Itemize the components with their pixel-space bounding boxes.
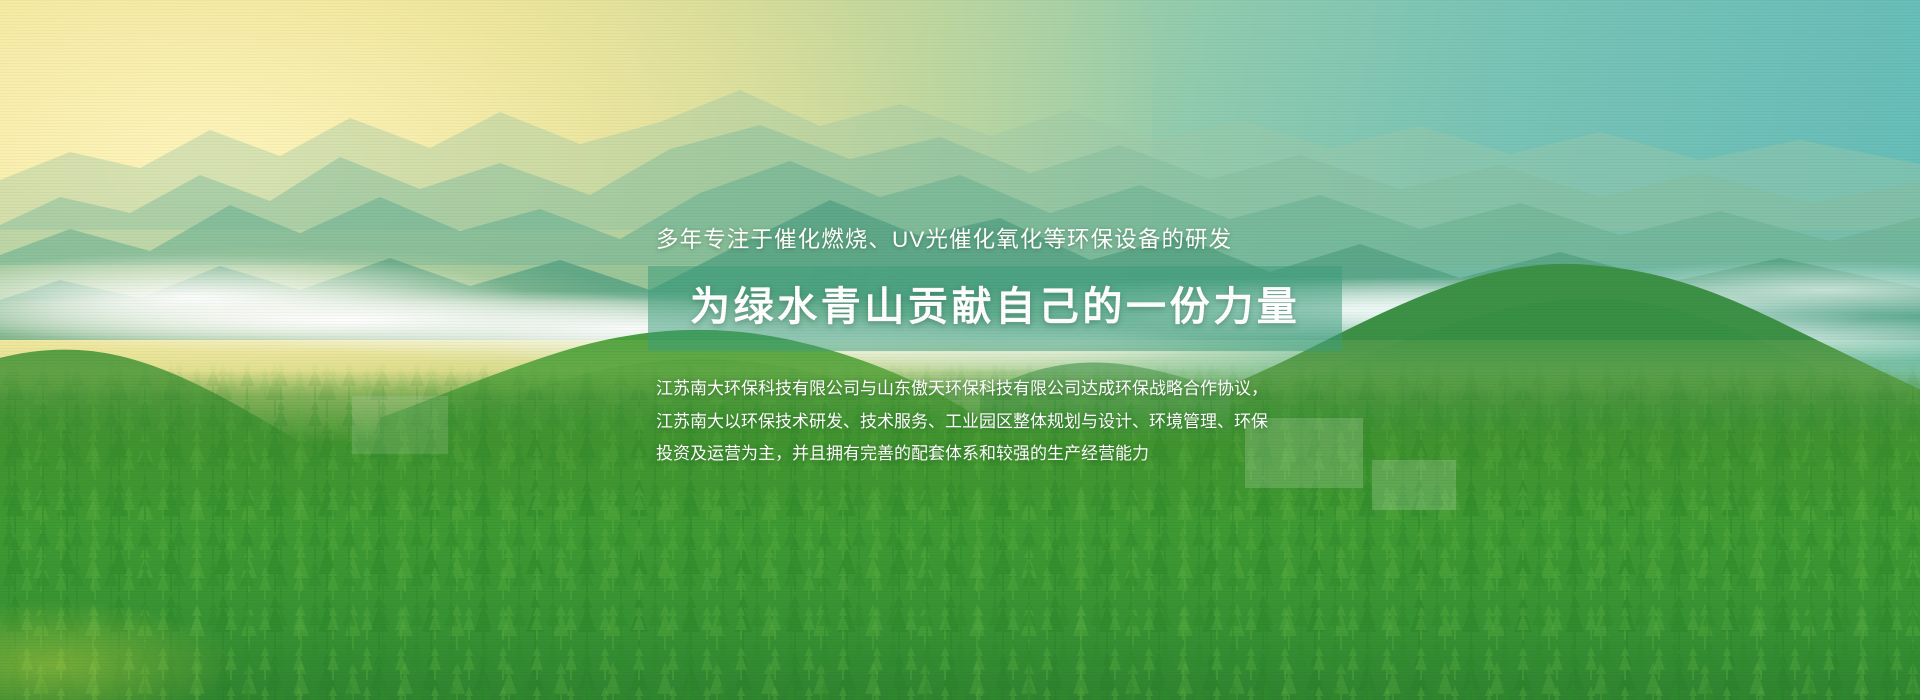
headline-band: 为绿水青山贡献自己的一份力量 <box>648 266 1342 351</box>
banner-headline: 为绿水青山贡献自己的一份力量 <box>690 286 1300 329</box>
banner-content: 多年专注于催化燃烧、UV光催化氧化等环保设备的研发 为绿水青山贡献自己的一份力量… <box>0 0 1920 700</box>
hero-banner: 多年专注于催化燃烧、UV光催化氧化等环保设备的研发 为绿水青山贡献自己的一份力量… <box>0 0 1920 700</box>
description-line: 江苏南大以环保技术研发、技术服务、工业园区整体规划与设计、环境管理、环保 <box>656 406 1268 439</box>
description-line: 投资及运营为主，并且拥有完善的配套体系和较强的生产经营能力 <box>656 438 1268 471</box>
banner-description: 江苏南大环保科技有限公司与山东傲天环保科技有限公司达成环保战略合作协议， 江苏南… <box>656 373 1268 471</box>
description-line: 江苏南大环保科技有限公司与山东傲天环保科技有限公司达成环保战略合作协议， <box>656 373 1268 406</box>
banner-eyebrow: 多年专注于催化燃烧、UV光催化氧化等环保设备的研发 <box>656 229 1232 252</box>
